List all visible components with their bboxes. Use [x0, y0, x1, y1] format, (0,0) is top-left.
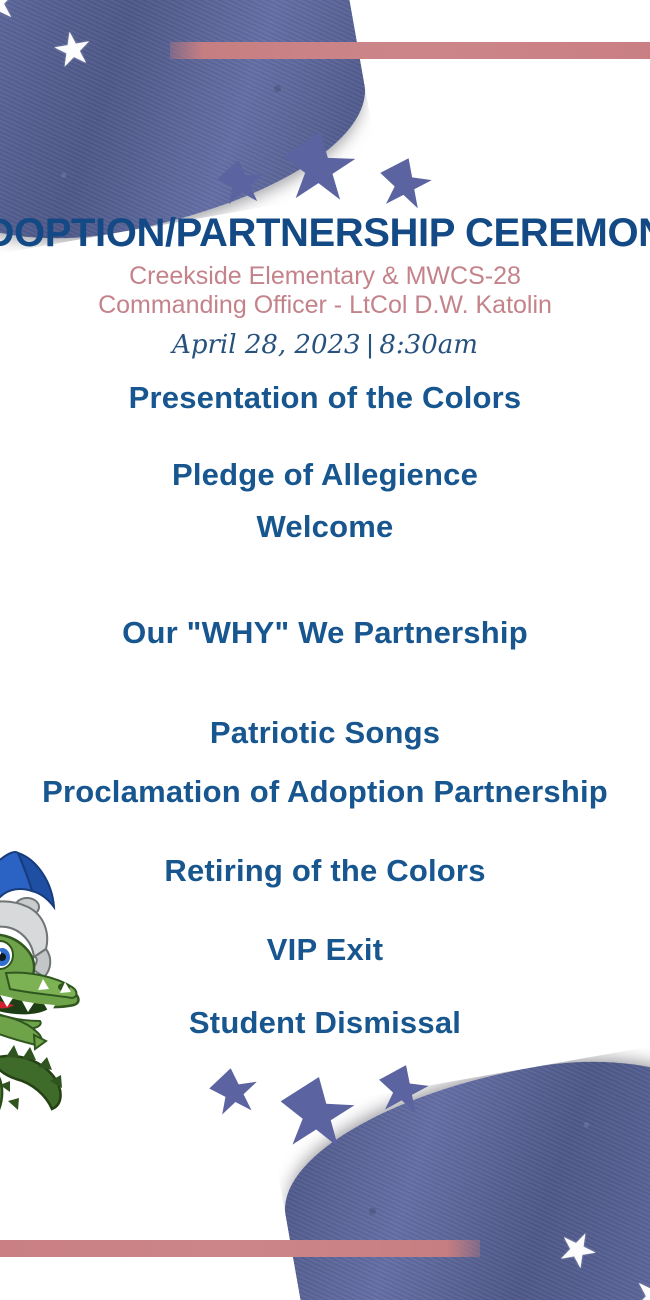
date-time-line: April 28, 2023|8:30am: [0, 329, 650, 360]
date-time-separator: |: [361, 329, 380, 359]
flag-star: ★: [48, 23, 97, 75]
three-star-cluster-top: [0, 128, 650, 208]
agenda-item: Patriotic Songs: [210, 715, 440, 751]
event-date: April 28, 2023: [172, 330, 361, 360]
star-icon: [376, 155, 435, 214]
subtitle: Creekside Elementary & MWCS-28 Commandin…: [0, 262, 650, 320]
flag-star: ★: [0, 59, 6, 111]
flag-star: ★: [553, 1225, 602, 1277]
page-title: ADOPTION/PARTNERSHIP CEREMONY: [0, 211, 650, 256]
red-stripe-top: [170, 42, 650, 59]
agenda-item: Our "WHY" We Partnership: [122, 615, 528, 651]
agenda-item: Welcome: [257, 509, 394, 545]
star-icon: [282, 131, 356, 205]
star-icon: [216, 158, 267, 209]
agenda-item: Student Dismissal: [189, 1005, 461, 1041]
flag-star: ★: [644, 1189, 650, 1241]
subtitle-line-1: Creekside Elementary & MWCS-28: [0, 262, 650, 291]
subtitle-line-2: Commanding Officer - LtCol D.W. Katolin: [0, 291, 650, 320]
flag-star: ★: [0, 0, 23, 32]
agenda-item: Retiring of the Colors: [164, 853, 485, 889]
agenda-item: VIP Exit: [267, 932, 383, 968]
red-stripe-bottom: [0, 1240, 480, 1257]
agenda-item: Presentation of the Colors: [129, 380, 522, 416]
flag-star: ★: [627, 1268, 650, 1300]
event-time: 8:30am: [379, 330, 478, 360]
agenda-item: Proclamation of Adoption Partnership: [42, 774, 608, 810]
ceremony-program-poster: ★ ★ ★ ★ ★ ★ ★ ★ ★ ★ ★ ★ ★ ★ ★ ★ ★ ★: [0, 0, 650, 1300]
agenda-item: Pledge of Allegience: [172, 457, 478, 493]
star-icon: [278, 1075, 356, 1153]
star-icon: [375, 1062, 431, 1118]
gator-knight-mascot: [0, 845, 138, 1140]
star-icon: [207, 1065, 261, 1119]
